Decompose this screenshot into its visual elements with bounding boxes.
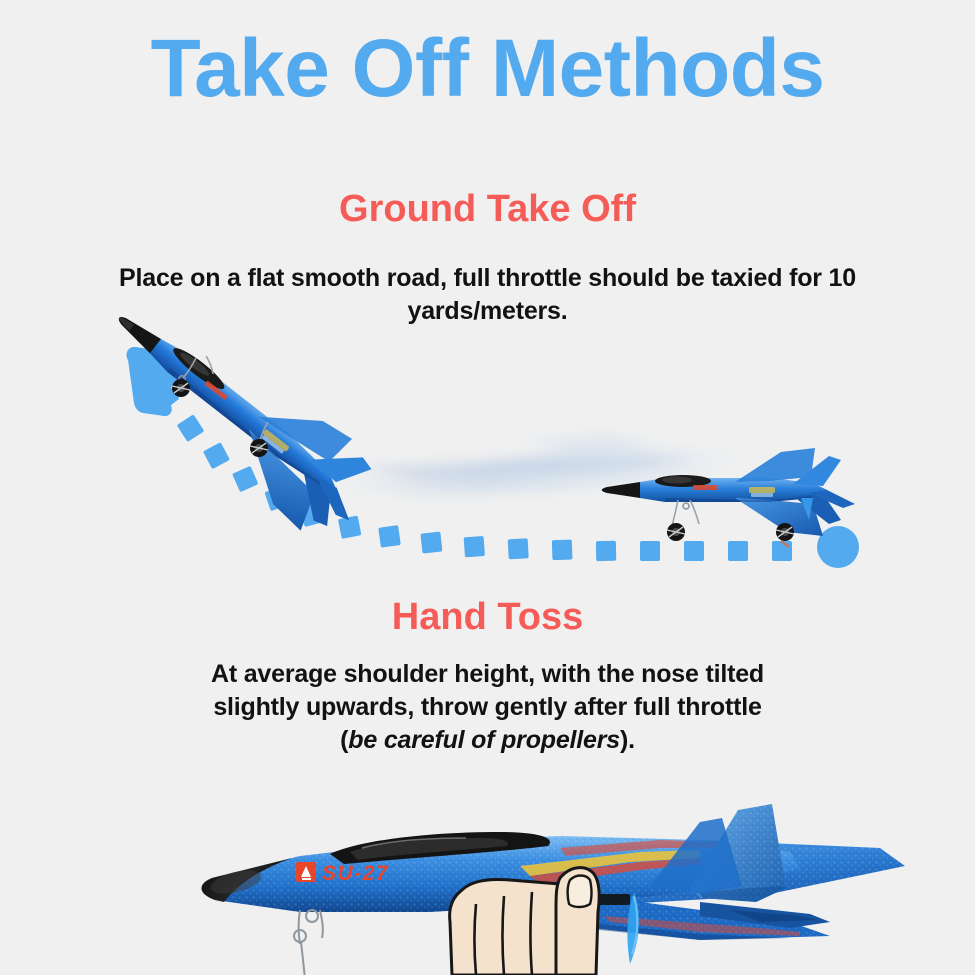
page-title: Take Off Methods: [0, 28, 975, 110]
infographic-page: Take Off Methods Ground Take Off Place o…: [0, 0, 975, 975]
hand-holding: [450, 868, 600, 975]
start-dot-marker: [817, 526, 859, 568]
ground-take-off-illustration: [0, 300, 975, 590]
landing-gear-wheel: [294, 910, 323, 975]
fuselage-marking-su-27: SU-27: [296, 862, 389, 885]
hand-toss-line-3-italic: be careful of propellers: [348, 726, 620, 754]
airplane-climbing: [85, 300, 390, 550]
landing-gear-level: [672, 500, 699, 526]
hand-toss-line-3-suffix: ).: [620, 726, 635, 754]
svg-text:SU-27: SU-27: [322, 862, 389, 885]
hand-toss-line-1: At average shoulder height, with the nos…: [211, 660, 764, 688]
section-heading-hand-toss: Hand Toss: [0, 598, 975, 636]
section-body-hand-toss: At average shoulder height, with the nos…: [0, 658, 975, 757]
section-heading-ground-take-off: Ground Take Off: [0, 190, 975, 228]
hand-toss-line-2: slightly upwards, throw gently after ful…: [213, 693, 761, 721]
hand-toss-illustration: SU-27: [0, 770, 975, 975]
